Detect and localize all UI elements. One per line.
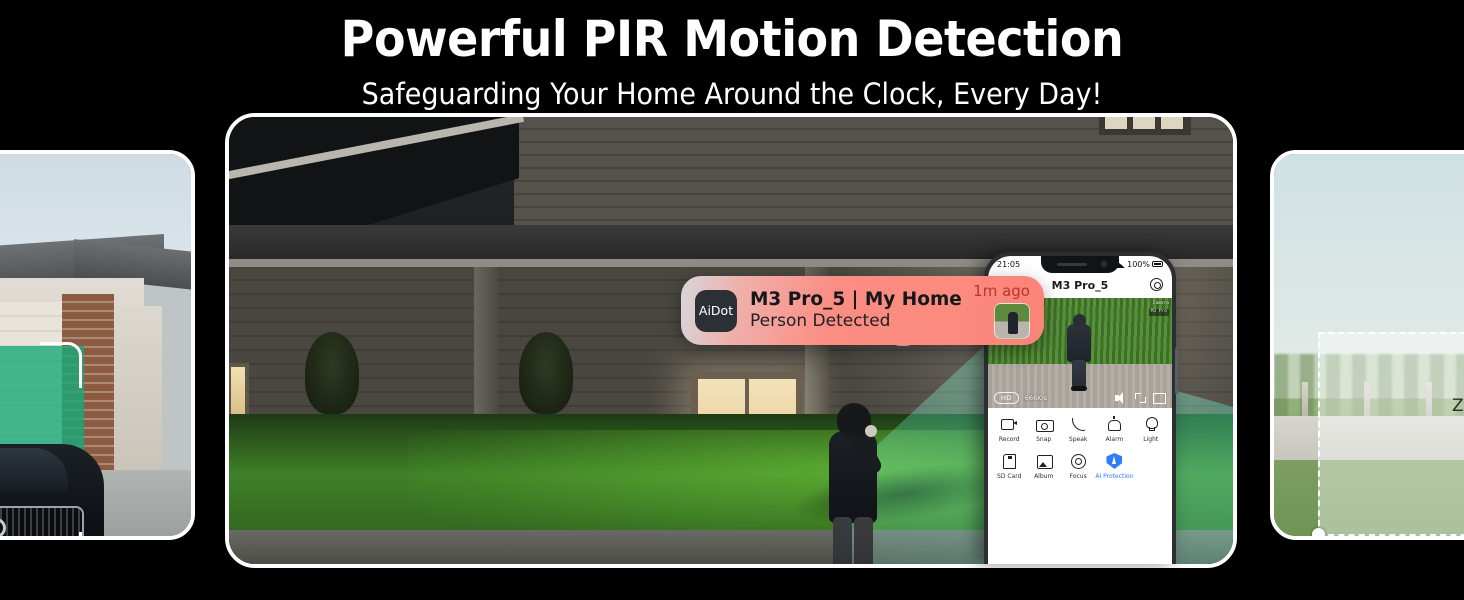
zone-drag-handle[interactable] (1312, 528, 1325, 540)
action-album[interactable]: Album (1026, 453, 1060, 480)
action-label: SD Card (997, 473, 1021, 480)
action-label: Record (999, 436, 1020, 443)
notification-title: M3 Pro_5 | My Home (750, 289, 973, 311)
earpiece-speaker (1057, 263, 1087, 266)
left-panel-frame: Vehicle PHK370 (0, 150, 195, 540)
detection-zone-overlay[interactable] (1318, 332, 1464, 536)
bitrate-label: 666K/s (1025, 394, 1047, 402)
left-preview-panel: Vehicle PHK370 (0, 150, 195, 540)
photo-album-icon (1036, 453, 1052, 469)
video-camera-label: M3 Pro (1149, 309, 1169, 316)
notification-thumbnail[interactable] (994, 303, 1030, 339)
action-sd-card[interactable]: SD Card (992, 453, 1026, 480)
notification-meta: 1m ago (973, 282, 1030, 339)
action-label: Album (1034, 473, 1053, 480)
action-record[interactable]: Record (992, 416, 1026, 443)
chimney-block (1099, 113, 1191, 135)
zone-label: Zo (1452, 396, 1464, 416)
vent (1133, 113, 1155, 129)
record-icon (1001, 416, 1017, 432)
action-snap[interactable]: Snap (1026, 416, 1060, 443)
action-light[interactable]: Light (1134, 416, 1168, 443)
right-panel-frame: Zo (1270, 150, 1464, 540)
ai-shield-icon (1106, 453, 1122, 469)
action-speak[interactable]: Speak (1061, 416, 1095, 443)
battery-percent: 100% (1127, 260, 1150, 269)
battery-icon (1152, 261, 1163, 267)
action-label: AI Protection (1095, 473, 1133, 480)
phone-statusbar: 21:05 100% (988, 256, 1172, 272)
side-door (114, 306, 162, 478)
camera-name-title: M3 Pro_5 (1052, 279, 1109, 292)
phone-side-button[interactable] (1175, 348, 1178, 394)
statusbar-right: 100% (1117, 260, 1163, 269)
right-preview-panel: Zo (1270, 150, 1464, 540)
expand-icon[interactable] (1134, 392, 1147, 404)
shrub (519, 332, 573, 414)
page-subtitle: Safeguarding Your Home Around the Clock,… (51, 64, 1413, 109)
statusbar-time: 21:05 (997, 260, 1020, 269)
zone-detection-photo: Zo (1274, 154, 1464, 536)
detection-bracket-top-right (40, 342, 82, 388)
vent (1161, 113, 1183, 129)
fullscreen-icon[interactable] (1153, 392, 1166, 404)
heading-block: Powerful PIR Motion Detection Safeguardi… (0, 0, 1464, 109)
promo-banner: Powerful PIR Motion Detection Safeguardi… (0, 0, 1464, 600)
action-label: Alarm (1106, 436, 1124, 443)
mute-icon[interactable] (1115, 392, 1128, 404)
notification-timestamp: 1m ago (973, 282, 1030, 300)
intruder-figure (825, 403, 881, 568)
side-window (227, 363, 249, 419)
phone-action-grid: RecordSnapSpeakAlarmLightSD CardAlbumFoc… (988, 408, 1172, 486)
action-label: Focus (1070, 473, 1087, 480)
video-timestamp-text: Camera (1149, 301, 1169, 308)
page-title: Powerful PIR Motion Detection (59, 0, 1406, 64)
camera-icon (1036, 416, 1052, 432)
notification-text: M3 Pro_5 | My Home Person Detected (750, 289, 973, 332)
detection-bracket-bottom-right (40, 532, 82, 540)
vent (1105, 113, 1127, 129)
action-alarm[interactable]: Alarm (1095, 416, 1133, 443)
hd-quality-badge[interactable]: HD (994, 392, 1019, 404)
action-label: Light (1143, 436, 1158, 443)
focus-target-icon (1070, 453, 1086, 469)
notification-body: Person Detected (750, 311, 973, 332)
gear-icon[interactable] (1150, 278, 1163, 291)
shrub (305, 332, 359, 414)
vehicle-detection-photo: Vehicle PHK370 (0, 154, 191, 536)
action-ai-protection[interactable]: AI Protection (1095, 453, 1133, 480)
video-controls: HD 666K/s (988, 388, 1172, 408)
lightbulb-icon (1143, 416, 1159, 432)
aidot-app-icon: AiDot (695, 290, 737, 332)
front-camera-icon (1101, 261, 1107, 267)
action-label: Speak (1069, 436, 1087, 443)
video-timestamp: Camera M3 Pro (1149, 301, 1169, 316)
phone-notch (1041, 256, 1119, 273)
action-label: Snap (1036, 436, 1051, 443)
action-focus[interactable]: Focus (1061, 453, 1095, 480)
phone-icon (1070, 416, 1086, 432)
sd-card-icon (1001, 453, 1017, 469)
video-person (1064, 314, 1094, 392)
alarm-bell-icon (1106, 416, 1122, 432)
push-notification[interactable]: AiDot M3 Pro_5 | My Home Person Detected… (681, 276, 1044, 345)
